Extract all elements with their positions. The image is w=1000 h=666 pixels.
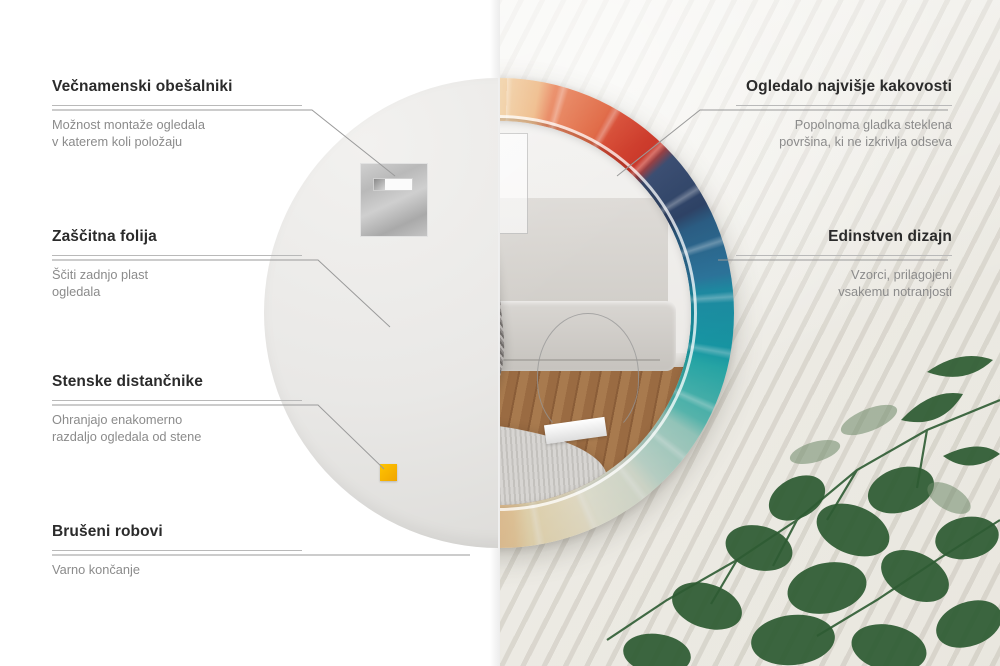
callout-protective-film: Zaščitna folija Ščiti zadnjo plast ogled…	[52, 228, 302, 300]
callout-desc: Možnost montaže ogledala v katerem koli …	[52, 116, 302, 150]
callout-title: Brušeni robovi	[52, 523, 302, 541]
callout-rule	[52, 400, 302, 401]
callout-rule	[52, 550, 302, 551]
callout-desc: Vzorci, prilagojeni vsakemu notranjosti	[736, 266, 952, 300]
callout-top-quality-mirror: Ogledalo najvišje kakovosti Popolnoma gl…	[736, 78, 952, 150]
hanger-plate	[360, 163, 428, 237]
callout-rule	[736, 105, 952, 106]
callout-unique-design: Edinstven dizajn Vzorci, prilagojeni vsa…	[736, 228, 952, 300]
callout-polished-edges: Brušeni robovi Varno končanje	[52, 523, 302, 578]
callout-hangers: Večnamenski obešalniki Možnost montaže o…	[52, 78, 302, 150]
callout-desc: Ščiti zadnjo plast ogledala	[52, 266, 302, 300]
callout-rule	[52, 105, 302, 106]
callout-title: Večnamenski obešalniki	[52, 78, 302, 96]
callout-title: Ogledalo najvišje kakovosti	[736, 78, 952, 96]
callout-title: Edinstven dizajn	[736, 228, 952, 246]
callout-rule	[736, 255, 952, 256]
callout-desc: Ohranjajo enakomerno razdaljo ogledala o…	[52, 411, 302, 445]
hanger-keyhole-slot	[373, 178, 413, 191]
callout-title: Zaščitna folija	[52, 228, 302, 246]
callout-wall-spacers: Stenske distančnike Ohranjajo enakomerno…	[52, 373, 302, 445]
callout-title: Stenske distančnike	[52, 373, 302, 391]
callout-desc: Varno končanje	[52, 561, 302, 578]
callout-rule	[52, 255, 302, 256]
infographic-canvas: Večnamenski obešalniki Možnost montaže o…	[0, 0, 1000, 666]
callout-desc: Popolnoma gladka steklena površina, ki n…	[736, 116, 952, 150]
yellow-wall-spacer	[380, 464, 397, 481]
